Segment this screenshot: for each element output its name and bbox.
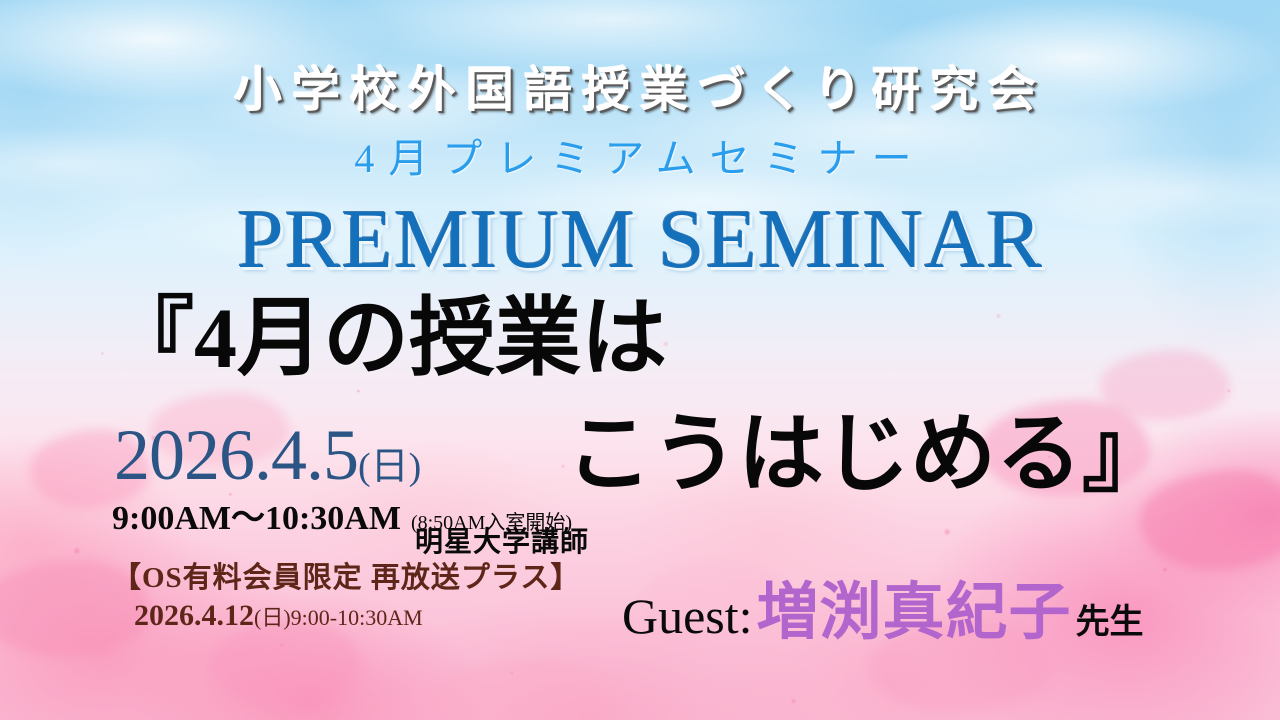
guest-honorific: 先生 [1076, 604, 1144, 641]
organization-title: 小学校外国語授業づくり研究会 [0, 63, 1280, 119]
event-date: 2026.4.5(日) [114, 420, 421, 510]
rerun-time: (日)9:00-10:30AM [254, 605, 423, 630]
premium-seminar-heading: PREMIUM SEMINAR [0, 192, 1280, 288]
main-title-line-2: こうはじめる』 [566, 404, 1168, 504]
guest-label: Guest: [622, 588, 753, 644]
guest-affiliation: 明星大学講師 [0, 527, 1280, 559]
petal-shape [430, 660, 610, 720]
main-title-line-1: 『4月の授業は [108, 288, 667, 388]
rerun-info-block: 【OS有料会員限定 再放送プラス】 2026.4.12(日)9:00-10:30… [112, 560, 580, 639]
seminar-poster: 小学校外国語授業づくり研究会 4月プレミアムセミナー PREMIUM SEMIN… [0, 0, 1280, 720]
seminar-subtitle: 4月プレミアムセミナー [0, 135, 1280, 183]
guest-name: 増渕真紀子 [757, 579, 1072, 647]
event-date-value: 2026.4.5 [114, 415, 358, 495]
event-date-weekday: (日) [358, 446, 421, 488]
rerun-schedule: 2026.4.12(日)9:00-10:30AM [134, 598, 580, 639]
rerun-heading: 【OS有料会員限定 再放送プラス】 [112, 560, 580, 596]
guest-name-row: Guest: 増渕真紀子 先生 [622, 584, 1144, 658]
rerun-date: 2026.4.12 [134, 599, 254, 632]
